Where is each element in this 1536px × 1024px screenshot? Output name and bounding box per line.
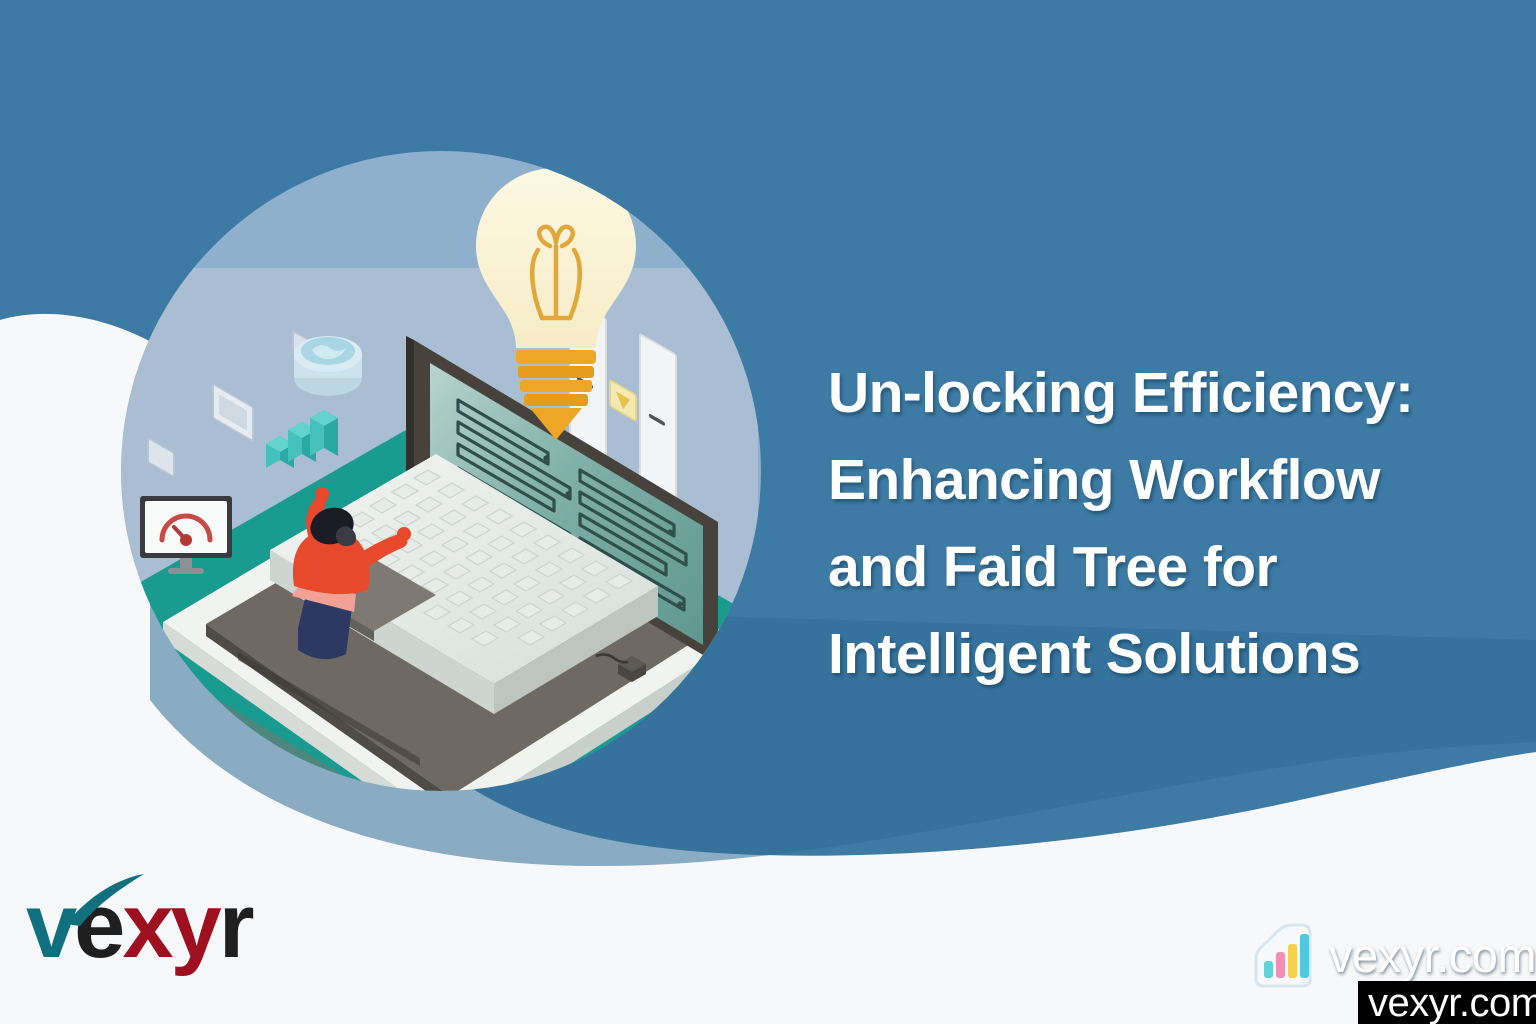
- globe-stand: [294, 336, 362, 396]
- banner-canvas: Un-locking Efficiency: Enhancing Workflo…: [0, 0, 1536, 1024]
- bar-chart-badge-icon: [1246, 919, 1318, 991]
- watermark-overlay-text: vexyr.com: [1368, 983, 1536, 1023]
- title-line-2: Enhancing Workflow: [828, 437, 1518, 524]
- logo-letters-xy: xy: [122, 875, 218, 977]
- watermark-overlay-box: vexyr.com: [1358, 981, 1536, 1024]
- watermark-text: vexyr.com: [1329, 932, 1536, 979]
- title-line-1: Un-locking Efficiency:: [828, 350, 1518, 437]
- logo-letter-e: e: [74, 875, 122, 977]
- brand-logo[interactable]: vexyr: [26, 880, 252, 972]
- title-line-3: and Faid Tree for: [828, 524, 1518, 611]
- logo-letter-v: v: [26, 875, 74, 977]
- page-title: Un-locking Efficiency: Enhancing Workflo…: [828, 350, 1518, 698]
- logo-letter-r: r: [219, 875, 252, 977]
- hero-illustration: [118, 148, 764, 794]
- title-line-4: Intelligent Solutions: [828, 611, 1518, 698]
